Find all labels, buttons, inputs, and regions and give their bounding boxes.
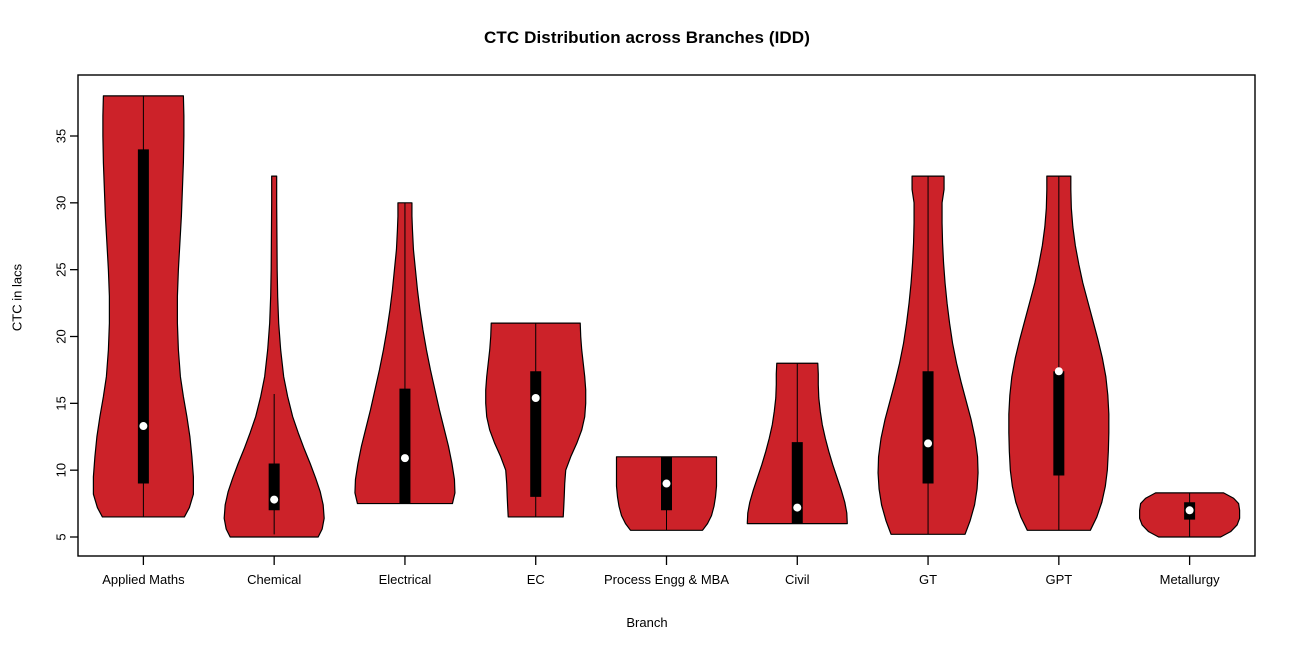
median-point — [1186, 506, 1194, 514]
x-tick-label-process-engg-mba: Process Engg & MBA — [604, 572, 729, 587]
violin-applied-maths[interactable] — [93, 96, 193, 517]
median-point — [401, 454, 409, 462]
plot-area: 5101520253035Applied MathsChemicalElectr… — [0, 0, 1294, 653]
median-point — [139, 422, 147, 430]
x-tick-label-gt: GT — [919, 572, 937, 587]
y-tick-label: 25 — [53, 262, 68, 276]
x-tick-label-ec: EC — [527, 572, 545, 587]
y-tick-label: 20 — [53, 329, 68, 343]
median-point — [663, 480, 671, 488]
y-tick-label: 5 — [53, 533, 68, 540]
violins-layer — [93, 96, 1239, 537]
violin-civil[interactable] — [747, 363, 847, 523]
violin-ec[interactable] — [486, 323, 586, 517]
x-tick-label-electrical: Electrical — [379, 572, 432, 587]
median-point — [532, 394, 540, 402]
x-tick-label-civil: Civil — [785, 572, 810, 587]
median-point — [1055, 367, 1063, 375]
y-tick-label: 30 — [53, 196, 68, 210]
violin-gt[interactable] — [878, 176, 978, 534]
x-tick-label-gpt: GPT — [1045, 572, 1072, 587]
violin-chemical[interactable] — [224, 176, 324, 537]
violin-process-engg-mba[interactable] — [617, 457, 717, 531]
y-tick-label: 15 — [53, 396, 68, 410]
violin-electrical[interactable] — [355, 203, 455, 504]
x-tick-label-applied-maths: Applied Maths — [102, 572, 185, 587]
y-tick-label: 35 — [53, 129, 68, 143]
violin-gpt[interactable] — [1009, 176, 1109, 530]
median-point — [270, 496, 278, 504]
median-point — [793, 504, 801, 512]
violin-metallurgy[interactable] — [1140, 493, 1240, 537]
x-tick-label-metallurgy: Metallurgy — [1160, 572, 1220, 587]
median-point — [924, 439, 932, 447]
x-tick-label-chemical: Chemical — [247, 572, 301, 587]
y-tick-label: 10 — [53, 463, 68, 477]
violin-plot-figure: CTC Distribution across Branches (IDD) C… — [0, 0, 1294, 653]
